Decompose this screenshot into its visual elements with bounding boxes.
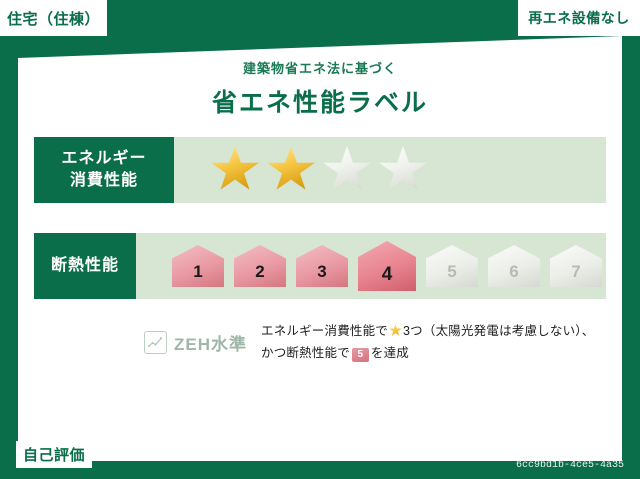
zeh-standard-label: ZEH水準	[174, 330, 247, 355]
self-evaluation-badge: 自己評価	[16, 441, 92, 468]
grade-badge: 2	[234, 245, 286, 287]
grade-badge-inline: 5	[352, 348, 369, 362]
label-id: 6cc9bd1b-4ce5-4a35	[479, 460, 624, 471]
energy-performance-row: エネルギー 消費性能	[34, 137, 606, 203]
star-rating	[174, 137, 606, 203]
renewable-energy-tag: 再エネ設備なし	[518, 0, 640, 36]
achievement-description: エネルギー消費性能で3つ（太陽光発電は考慮しない）、かつ断熱性能で5を達成	[261, 321, 606, 365]
grade-badge-label: 1	[193, 262, 202, 282]
label-sheet: 建築物省エネ法に基づく 省エネ性能ラベル エネルギー 消費性能 断熱性能 123…	[18, 36, 622, 461]
title-block: 建築物省エネ法に基づく 省エネ性能ラベル	[18, 58, 622, 119]
label-subtitle: 建築物省エネ法に基づく	[18, 58, 622, 77]
grade-badge-label: 6	[509, 262, 518, 282]
grade-badge: 6	[488, 245, 540, 287]
energy-performance-label-line1: エネルギー	[61, 148, 146, 170]
building-type-tag-label: 住宅（住棟）	[7, 8, 100, 29]
renewable-energy-tag-label: 再エネ設備なし	[528, 8, 630, 28]
grade-badge: 3	[296, 245, 348, 287]
zeh-info-block: ZEH水準 エネルギー消費性能で3つ（太陽光発電は考慮しない）、かつ断熱性能で5…	[34, 321, 606, 365]
zeh-icon	[144, 331, 167, 354]
grade-badge-label: 2	[255, 262, 264, 282]
footer-right: 評価日 2024年10月3日 6cc9bd1b-4ce5-4a35	[479, 437, 624, 471]
star-filled-icon	[210, 146, 260, 194]
insulation-performance-row-label: 断熱性能	[34, 233, 136, 299]
star-empty-icon	[378, 146, 428, 194]
building-type-tag: 住宅（住棟）	[0, 0, 107, 36]
insulation-grade-scale: 1234567	[136, 233, 606, 299]
grade-badge: 1	[172, 245, 224, 287]
energy-performance-row-label: エネルギー 消費性能	[34, 137, 174, 203]
description-part-1: エネルギー消費性能で	[261, 324, 388, 338]
footer-left: 自己評価 プレサンス京橋GREEN YARDアルミラ	[16, 441, 349, 468]
grade-badge-label: 3	[317, 262, 326, 282]
grade-badge: 7	[550, 245, 602, 287]
label-footer: 自己評価 プレサンス京橋GREEN YARDアルミラ 評価日 2024年10月3…	[0, 429, 640, 479]
grade-badge-label: 4	[382, 264, 393, 286]
insulation-performance-label-line1: 断熱性能	[51, 255, 119, 277]
grade-badge-achieved: 4	[358, 241, 416, 291]
star-filled-icon	[266, 146, 316, 194]
star-empty-icon	[322, 146, 372, 194]
building-name: プレサンス京橋GREEN YARDアルミラ	[100, 444, 349, 464]
grade-badge-label: 5	[447, 262, 456, 282]
energy-performance-label: 住宅（住棟） 再エネ設備なし 建築物省エネ法に基づく 省エネ性能ラベル エネルギ…	[0, 0, 640, 479]
insulation-performance-row: 断熱性能 1234567	[34, 233, 606, 299]
label-title: 省エネ性能ラベル	[18, 83, 622, 119]
grade-badge-label: 7	[571, 262, 580, 282]
grade-badge: 5	[426, 245, 478, 287]
description-part-3: を達成	[371, 346, 409, 360]
zeh-standard-chip: ZEH水準	[144, 330, 247, 355]
star-icon	[389, 324, 402, 337]
evaluation-date: 評価日 2024年10月3日	[479, 437, 624, 457]
energy-performance-label-line2: 消費性能	[70, 170, 138, 192]
